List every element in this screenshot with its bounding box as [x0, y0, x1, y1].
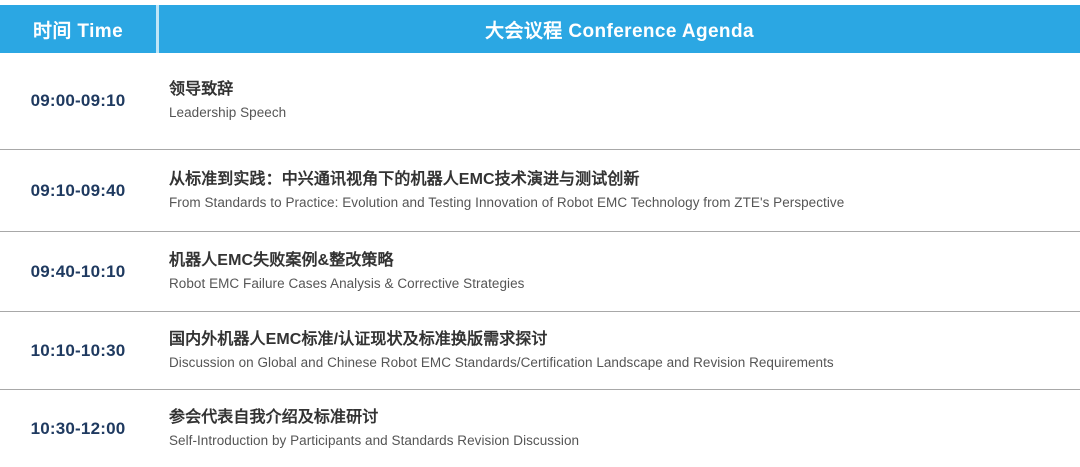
table-row: 10:10-10:30 国内外机器人EMC标准/认证现状及标准换版需求探讨 Di…	[0, 312, 1080, 390]
conference-agenda-table: 时间 Time 大会议程 Conference Agenda 09:00-09:…	[0, 0, 1080, 467]
header-agenda-column: 大会议程 Conference Agenda	[159, 5, 1080, 53]
row-topic-cell: 参会代表自我介绍及标准研讨 Self-Introduction by Parti…	[156, 407, 1080, 450]
session-title-zh: 从标准到实践：中兴通讯视角下的机器人EMC技术演进与测试创新	[169, 169, 1064, 191]
session-title-en: Robot EMC Failure Cases Analysis & Corre…	[169, 274, 1064, 294]
session-title-zh: 领导致辞	[169, 79, 1064, 101]
session-title-zh: 国内外机器人EMC标准/认证现状及标准换版需求探讨	[169, 329, 1064, 351]
row-topic-cell: 机器人EMC失败案例&整改策略 Robot EMC Failure Cases …	[156, 250, 1080, 293]
session-time: 09:00-09:10	[31, 91, 126, 111]
header-time-label: 时间 Time	[33, 16, 123, 43]
row-topic-cell: 领导致辞 Leadership Speech	[156, 79, 1080, 122]
session-title-en: Self-Introduction by Participants and St…	[169, 431, 1064, 451]
agenda-table-header: 时间 Time 大会议程 Conference Agenda	[0, 5, 1080, 53]
row-time-cell: 09:10-09:40	[0, 181, 156, 201]
session-time: 09:40-10:10	[31, 262, 126, 282]
session-time: 09:10-09:40	[31, 181, 126, 201]
table-row: 10:30-12:00 参会代表自我介绍及标准研讨 Self-Introduct…	[0, 390, 1080, 467]
session-title-en: From Standards to Practice: Evolution an…	[169, 193, 1064, 213]
header-time-column: 时间 Time	[0, 5, 156, 53]
table-row: 09:40-10:10 机器人EMC失败案例&整改策略 Robot EMC Fa…	[0, 232, 1080, 312]
row-time-cell: 09:00-09:10	[0, 91, 156, 111]
row-time-cell: 10:30-12:00	[0, 419, 156, 439]
session-time: 10:30-12:00	[31, 419, 126, 439]
session-title-en: Leadership Speech	[169, 103, 1064, 123]
table-row: 09:00-09:10 领导致辞 Leadership Speech	[0, 53, 1080, 150]
row-topic-cell: 国内外机器人EMC标准/认证现状及标准换版需求探讨 Discussion on …	[156, 329, 1080, 372]
agenda-table-body: 09:00-09:10 领导致辞 Leadership Speech 09:10…	[0, 53, 1080, 467]
row-topic-cell: 从标准到实践：中兴通讯视角下的机器人EMC技术演进与测试创新 From Stan…	[156, 169, 1080, 212]
row-time-cell: 09:40-10:10	[0, 262, 156, 282]
session-title-zh: 机器人EMC失败案例&整改策略	[169, 250, 1064, 272]
table-row: 09:10-09:40 从标准到实践：中兴通讯视角下的机器人EMC技术演进与测试…	[0, 150, 1080, 232]
header-agenda-label: 大会议程 Conference Agenda	[485, 16, 754, 43]
session-title-en: Discussion on Global and Chinese Robot E…	[169, 353, 1064, 373]
session-time: 10:10-10:30	[31, 341, 126, 361]
row-time-cell: 10:10-10:30	[0, 341, 156, 361]
session-title-zh: 参会代表自我介绍及标准研讨	[169, 407, 1064, 429]
